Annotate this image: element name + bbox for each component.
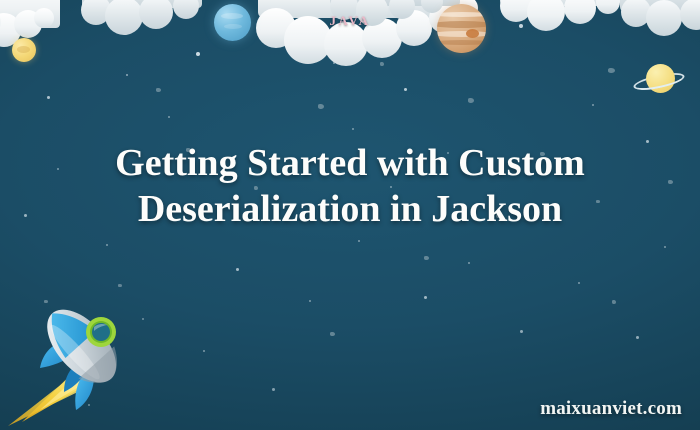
page-title-line2: Deserialization in Jackson <box>40 186 660 232</box>
category-kicker: JAVA <box>0 13 700 29</box>
page-title: Getting Started with Custom Deserializat… <box>0 140 700 232</box>
rocket-icon <box>2 292 162 427</box>
saturn-planet-icon <box>633 60 685 100</box>
article-banner: JAVA Getting Started with Custom Deseria… <box>0 0 700 430</box>
page-title-line1: Getting Started with Custom <box>115 142 585 184</box>
site-watermark: maixuanviet.com <box>540 398 682 420</box>
moon-icon <box>12 38 36 62</box>
